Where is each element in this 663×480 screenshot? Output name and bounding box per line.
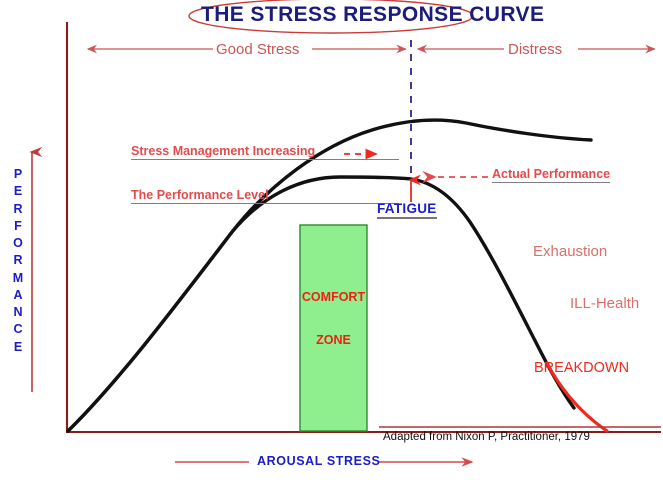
x-axis-title: AROUSAL STRESS [257,455,380,468]
annotation-stress-management-line2: The Performance Level [131,189,399,204]
band-label-distress: Distress [508,42,562,58]
y-axis-title-letter-5: R [11,252,25,269]
band-label-good-stress: Good Stress [216,42,299,58]
annotation-actual-performance: Actual Performance [492,168,610,183]
y-axis-title-letter-2: R [11,201,25,218]
y-axis-title-letter-0: P [11,166,25,183]
annotation-ill-health: ILL-Health [570,296,639,312]
y-axis-title-letter-1: E [11,183,25,200]
annotation-stress-management: Stress Management Increasing The Perform… [131,119,399,232]
stress-response-curve-diagram: THE STRESS RESPONSE CURVE Good Stress Di… [0,0,663,480]
annotation-comfort-zone-line2: ZONE [300,333,367,347]
page-title: THE STRESS RESPONSE CURVE [201,4,544,26]
annotation-comfort-zone-line1: COMFORT [300,290,367,304]
annotation-breakdown: BREAKDOWN [534,361,629,376]
annotation-exhaustion: Exhaustion [533,244,607,260]
annotation-comfort-zone: COMFORT ZONE [300,261,367,376]
attribution-text: Adapted from Nixon P, Practitioner, 1979 [383,431,590,443]
y-axis-title-letter-10: E [11,339,25,356]
y-axis-title-letter-9: C [11,321,25,338]
y-axis-title-letter-6: M [11,270,25,287]
y-axis-title-letter-8: N [11,304,25,321]
annotation-stress-management-line1: Stress Management Increasing [131,145,399,160]
y-axis-title-letter-4: O [11,235,25,252]
y-axis-title-letter-3: F [11,218,25,235]
y-axis-title: PERFORMANCE [11,166,25,356]
y-axis-title-letter-7: A [11,287,25,304]
diagram-canvas [0,0,663,480]
annotation-fatigue: FATIGUE [377,202,437,219]
